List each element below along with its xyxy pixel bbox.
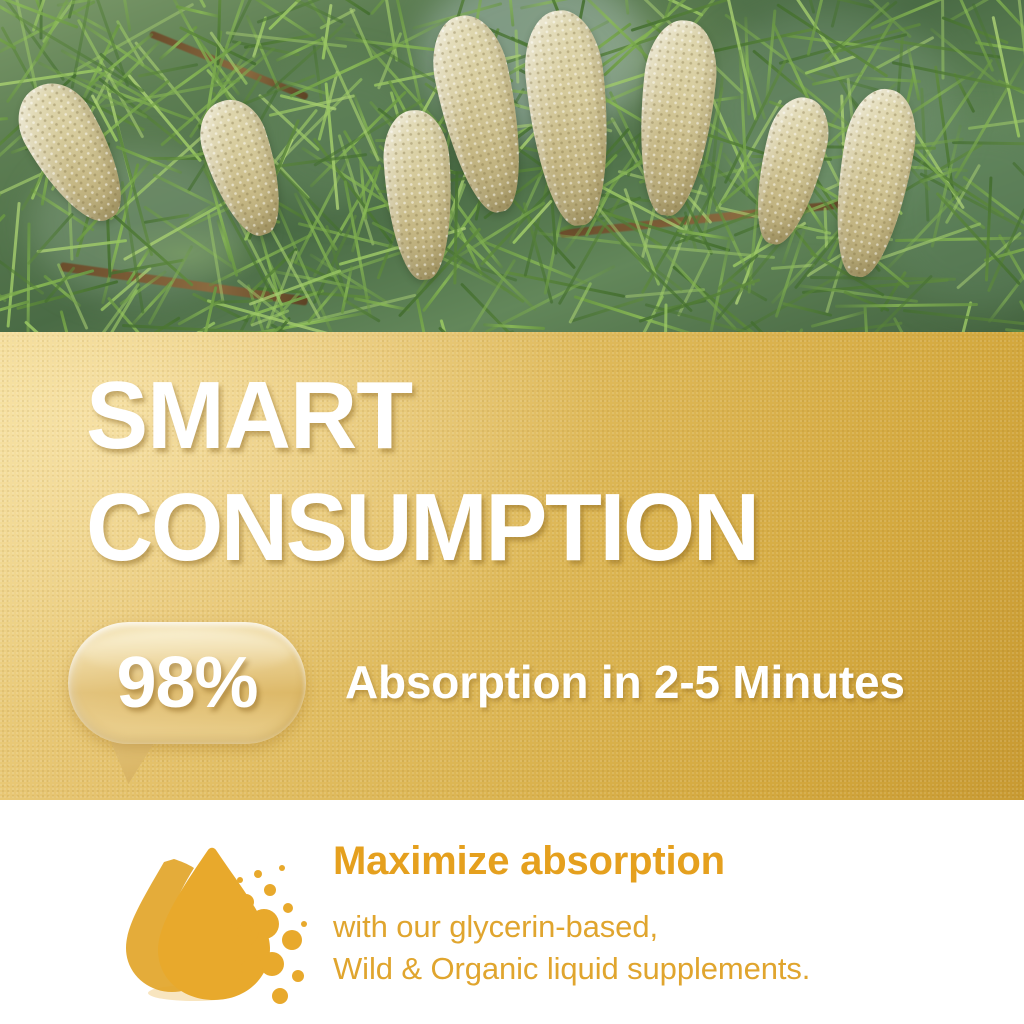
pine-needle — [177, 298, 224, 326]
pine-needle — [782, 302, 832, 317]
pine-needle — [1017, 0, 1024, 61]
absorption-badge: 98% — [68, 622, 308, 782]
info-panel-title: Maximize absorption — [333, 838, 973, 884]
headline-line-2: CONSUMPTION — [86, 472, 758, 584]
pine-needle — [0, 117, 8, 123]
info-panel: Maximize absorption with our glycerin-ba… — [0, 800, 1024, 1024]
absorption-claim: Absorption in 2-5 Minutes — [345, 655, 905, 709]
badge-value: 98% — [68, 622, 306, 744]
pine-needle — [138, 0, 206, 8]
hero-photo — [0, 0, 1024, 333]
info-panel-line-1: with our glycerin-based, — [333, 906, 973, 948]
headline-line-1: SMART — [86, 360, 758, 472]
headline: SMART CONSUMPTION — [86, 360, 758, 584]
info-panel-line-2: Wild & Organic liquid supplements. — [333, 948, 973, 990]
info-panel-text: Maximize absorption with our glycerin-ba… — [333, 838, 973, 990]
pine-needle — [26, 223, 30, 333]
promo-poster: SMART CONSUMPTION 98% Absorption in 2-5 … — [0, 0, 1024, 1024]
pine-needle — [294, 0, 344, 24]
liquid-droplet-icon — [112, 828, 312, 1008]
pine-needle — [822, 0, 874, 9]
pine-needle — [1019, 300, 1024, 333]
